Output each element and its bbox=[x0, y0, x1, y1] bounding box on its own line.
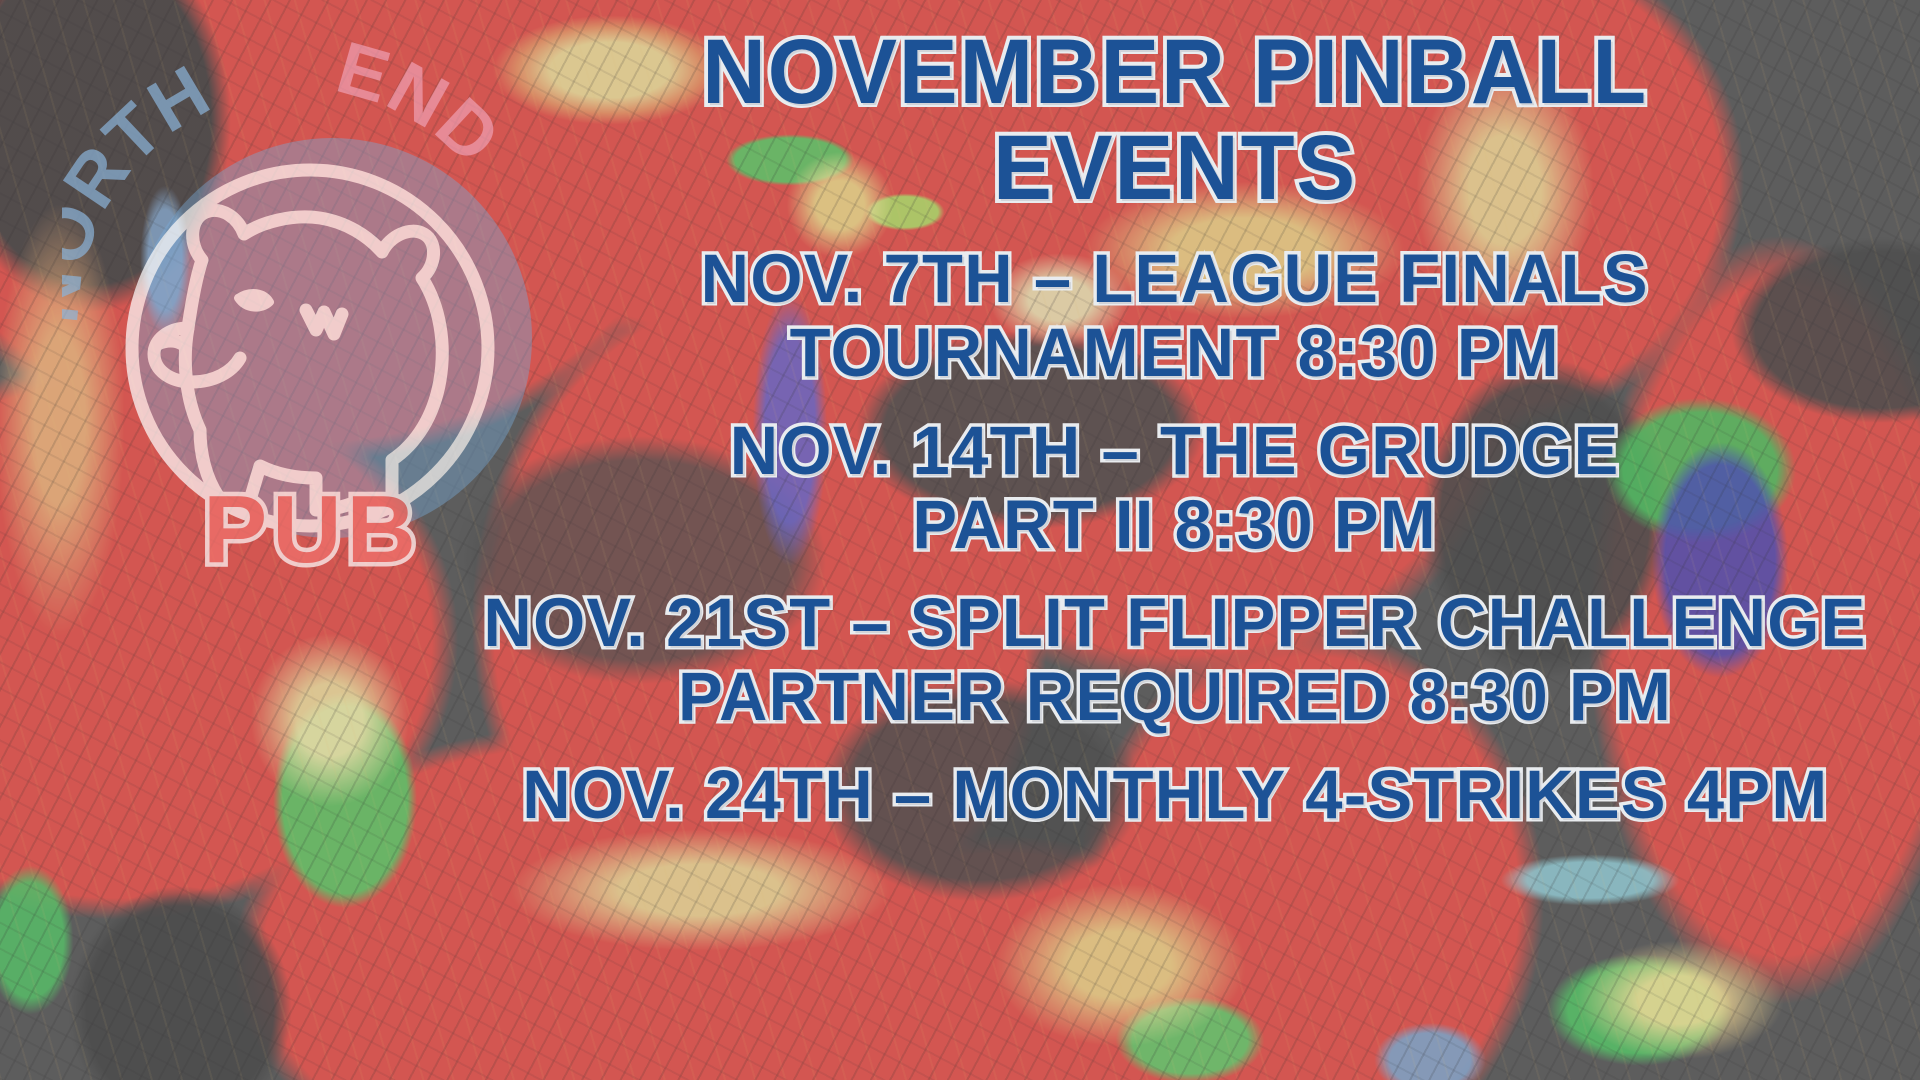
event-item: NOV. 21ST – SPLIT FLIPPER CHALLENGE PART… bbox=[462, 586, 1888, 734]
event-1-line-2: TOURNAMENT 8:30 PM bbox=[701, 316, 1649, 390]
logo-pub-wordmark: PUB bbox=[172, 470, 452, 590]
event-4-line-1: NOV. 24TH – MONTHLY 4-STRIKES 4PM bbox=[522, 758, 1828, 832]
logo-pub-label: PUB bbox=[203, 476, 421, 583]
event-3-line-2: PARTNER REQUIRED 8:30 PM bbox=[483, 660, 1866, 734]
event-3-line-1: NOV. 21ST – SPLIT FLIPPER CHALLENGE bbox=[483, 586, 1866, 660]
event-item: NOV. 14TH – THE GRUDGE PART II 8:30 PM bbox=[716, 414, 1633, 562]
pinball-events-poster: NORTH END P bbox=[0, 0, 1920, 1080]
title-line-1: NOVEMBER PINBALL bbox=[460, 24, 1890, 120]
event-2-line-2: PART II 8:30 PM bbox=[730, 488, 1620, 562]
page-title: NOVEMBER PINBALL EVENTS bbox=[430, 24, 1920, 216]
event-item: NOV. 24TH – MONTHLY 4-STRIKES 4PM bbox=[502, 758, 1849, 832]
event-1-line-1: NOV. 7TH – LEAGUE FINALS bbox=[701, 242, 1649, 316]
event-2-line-1: NOV. 14TH – THE GRUDGE bbox=[730, 414, 1620, 488]
event-item: NOV. 7TH – LEAGUE FINALS TOURNAMENT 8:30… bbox=[686, 242, 1664, 390]
poster-copy: NOVEMBER PINBALL EVENTS NOV. 7TH – LEAGU… bbox=[430, 0, 1920, 1080]
title-line-2: EVENTS bbox=[460, 120, 1890, 216]
